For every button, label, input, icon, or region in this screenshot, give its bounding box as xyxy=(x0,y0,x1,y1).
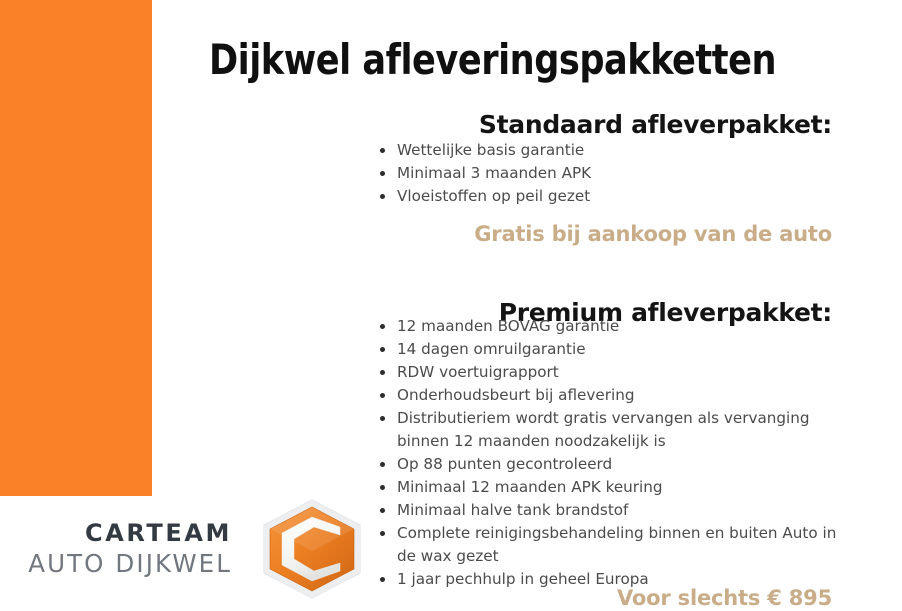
brand-lockup: CARTEAM AUTO DIJKWEL xyxy=(0,505,370,600)
brand-name-carteam: CARTEAM xyxy=(0,518,232,548)
brand-name-auto-dijkwel: AUTO DIJKWEL xyxy=(0,548,232,579)
list-item: Wettelijke basis garantie xyxy=(380,139,844,162)
list-item: Distributieriem wordt gratis vervangen a… xyxy=(380,407,844,453)
list-item: Minimaal 12 maanden APK keuring xyxy=(380,476,844,499)
list-item: Onderhoudsbeurt bij aflevering xyxy=(380,384,844,407)
brand-wordmark: CARTEAM AUTO DIJKWEL xyxy=(0,518,232,579)
section-heading-standaard: Standaard afleverpakket: xyxy=(479,110,832,140)
feature-list-premium: 12 maanden BOVAG garantie 14 dagen omrui… xyxy=(380,315,844,591)
list-item: Complete reinigingsbehandeling binnen en… xyxy=(380,522,844,568)
page-title: Dijkwel afleveringspakketten xyxy=(176,36,809,83)
tagline-standaard: Gratis bij aankoop van de auto xyxy=(474,222,832,247)
list-item: Minimaal halve tank brandstof xyxy=(380,499,844,522)
tagline-premium: Voor slechts € 895 xyxy=(617,586,832,611)
orange-accent-panel xyxy=(0,0,152,496)
list-item: Vloeistoffen op peil gezet xyxy=(380,185,844,208)
feature-list-standaard: Wettelijke basis garantie Minimaal 3 maa… xyxy=(380,139,844,208)
list-item: Op 88 punten gecontroleerd xyxy=(380,453,844,476)
list-item: Minimaal 3 maanden APK xyxy=(380,162,844,185)
list-item: RDW voertuigrapport xyxy=(380,361,844,384)
list-item: 12 maanden BOVAG garantie xyxy=(380,315,844,338)
list-item: 14 dagen omruilgarantie xyxy=(380,338,844,361)
carteam-hexagon-c-logo-icon xyxy=(256,497,368,601)
